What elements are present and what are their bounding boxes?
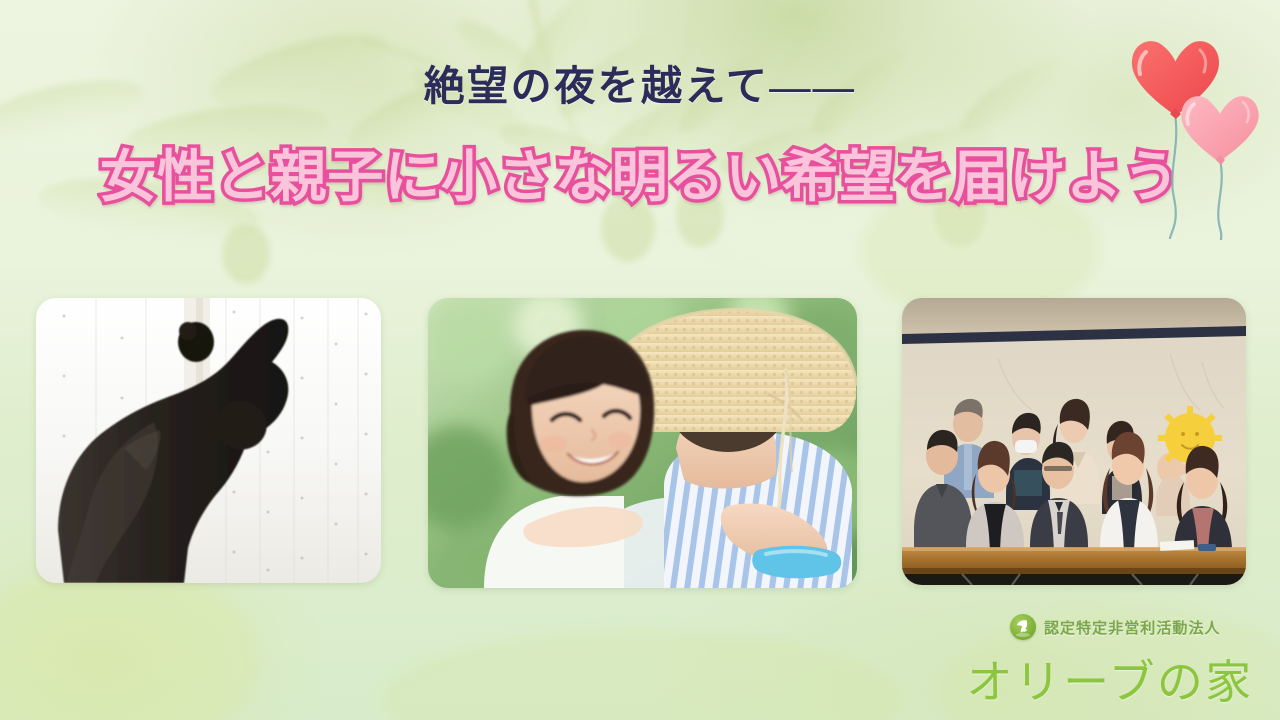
dove-olive-leaf-icon: [1010, 614, 1036, 640]
photo-staff-group: [902, 298, 1246, 585]
photo-row: [0, 298, 1280, 594]
photo-parent-and-child-hug: [428, 298, 857, 588]
poster-canvas: 絶望の夜を越えて—— 女性と親子に小さな明るい希望を届けよう: [0, 0, 1280, 720]
poster-subtitle: 絶望の夜を越えて——: [0, 52, 1280, 112]
logo-name-label: オリーブの家: [960, 646, 1260, 712]
logo-top-row: 認定特定非営利活動法人: [960, 612, 1260, 642]
poster-headline: 女性と親子に小さな明るい希望を届けよう: [0, 132, 1280, 213]
logo-kind-label: 認定特定非営利活動法人: [1044, 617, 1221, 638]
photo-woman-in-distress: [36, 298, 381, 583]
organization-logo: 認定特定非営利活動法人 オリーブの家: [960, 612, 1260, 708]
